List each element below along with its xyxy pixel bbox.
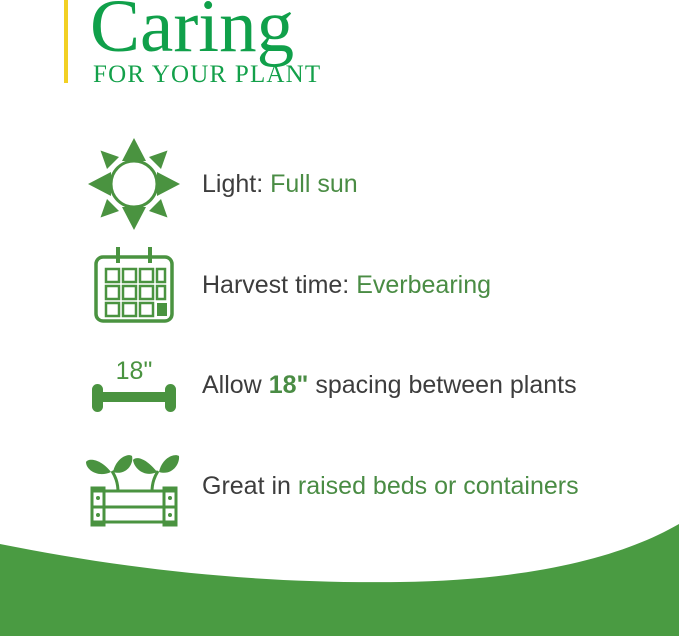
harvest-label: Harvest time: [202, 271, 349, 299]
accent-bar [64, 0, 68, 83]
sun-icon-wrap [80, 137, 188, 231]
light-text: Light: Full sun [188, 170, 660, 199]
sun-icon [87, 137, 181, 231]
location-text: Great in raised beds or containers [188, 472, 660, 501]
calendar-icon-wrap [80, 245, 188, 325]
care-row-harvest: Harvest time: Everbearing [80, 245, 660, 325]
calendar-icon [88, 245, 180, 325]
spacing-icon-wrap: 18" [80, 354, 188, 416]
spacing-text: Allow 18" spacing between plants [188, 371, 660, 400]
spacing-icon-label: 18" [116, 357, 153, 385]
harvest-text: Harvest time: Everbearing [188, 271, 660, 300]
page-title: Caring [90, 0, 294, 64]
bottom-wave-decoration [0, 516, 679, 636]
light-label: Light: [202, 170, 263, 198]
harvest-value: Everbearing [356, 271, 491, 299]
location-value: raised beds or containers [298, 472, 579, 500]
care-row-spacing: 18" Allow 18" spacing between plants [80, 352, 660, 418]
page-subtitle: FOR YOUR PLANT [93, 62, 321, 87]
location-label: Great in [202, 472, 291, 500]
spacing-label: Allow [202, 371, 262, 399]
header: Caring FOR YOUR PLANT [64, 0, 464, 100]
spacing-suffix: spacing between plants [315, 371, 576, 399]
light-value: Full sun [270, 170, 358, 198]
care-row-light: Light: Full sun [80, 137, 660, 231]
spacing-icon: 18" [86, 354, 182, 416]
caring-for-your-plant-card: Caring FOR YOUR PLANT Ligh [0, 0, 679, 636]
spacing-value: 18" [269, 371, 309, 399]
